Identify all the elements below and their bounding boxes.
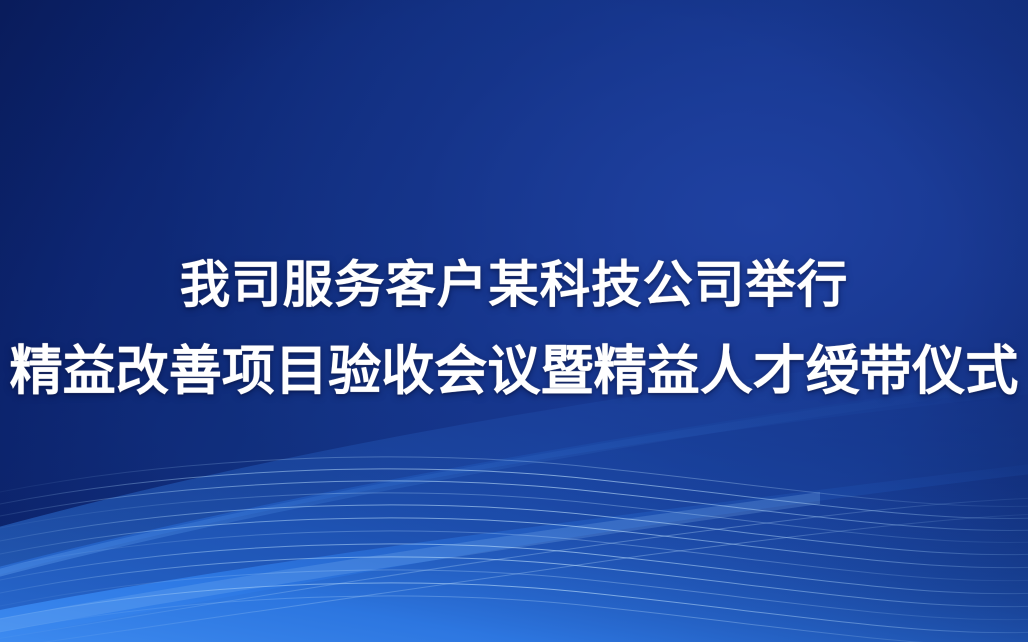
title-slide: 我司服务客户某科技公司举行 精益改善项目验收会议暨精益人才绶带仪式: [0, 0, 1028, 642]
title-block: 我司服务客户某科技公司举行 精益改善项目验收会议暨精益人才绶带仪式: [0, 0, 1028, 642]
title-line-primary: 我司服务客户某科技公司举行: [180, 255, 849, 315]
title-line-secondary: 精益改善项目验收会议暨精益人才绶带仪式: [10, 340, 1019, 403]
